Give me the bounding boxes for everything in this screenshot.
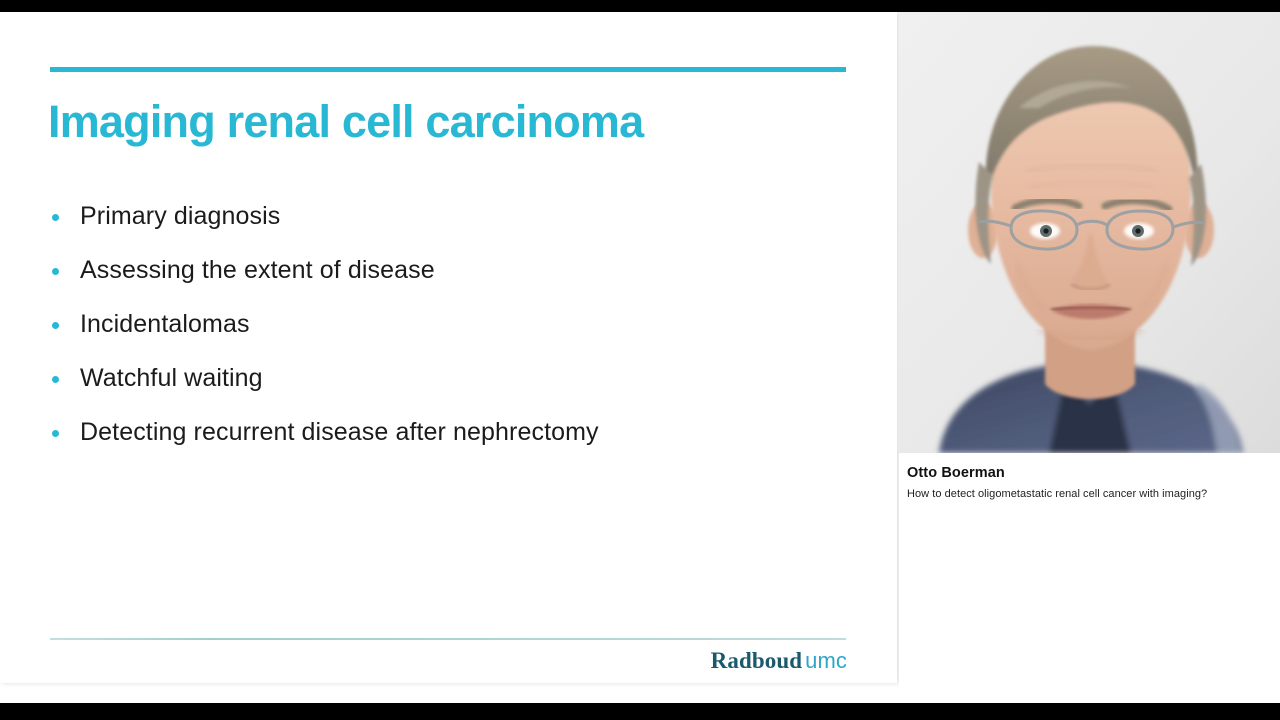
bullet-list: Primary diagnosis Assessing the extent o… [48,202,838,472]
letterbox-bar-bottom [0,703,1280,720]
bullet-text: Incidentalomas [80,310,250,339]
bullet-dot-icon [48,259,80,279]
list-item: Assessing the extent of disease [48,256,838,310]
bullet-dot-icon [48,367,80,387]
slide-panel[interactable]: Imaging renal cell carcinoma Primary dia… [0,12,897,683]
list-item: Incidentalomas [48,310,838,364]
list-item: Primary diagnosis [48,202,838,256]
stage-area: Imaging renal cell carcinoma Primary dia… [0,12,1280,703]
bullet-dot-icon [48,313,80,333]
title-accent-rule [50,67,846,72]
speaker-info: Otto Boerman How to detect oligometastat… [907,464,1277,501]
bullet-text: Watchful waiting [80,364,263,393]
bullet-dot-icon [48,205,80,225]
list-item: Detecting recurrent disease after nephre… [48,418,838,472]
bullet-dot-icon [48,421,80,441]
bullet-text: Primary diagnosis [80,202,280,231]
speaker-panel: Otto Boerman How to detect oligometastat… [899,12,1280,703]
radboud-umc-logo: Radboud umc [711,648,847,676]
letterbox-bar-top [0,0,1280,12]
speaker-talk-title: How to detect oligometastatic renal cell… [907,487,1277,501]
presentation-viewer: Imaging renal cell carcinoma Primary dia… [0,0,1280,720]
slide-title: Imaging renal cell carcinoma [48,98,848,147]
footer-divider [50,638,846,640]
logo-suffix: umc [805,648,847,674]
speaker-photo[interactable] [899,12,1280,453]
logo-wordmark: Radboud [711,648,802,674]
bullet-text: Assessing the extent of disease [80,256,435,285]
bullet-text: Detecting recurrent disease after nephre… [80,418,599,447]
list-item: Watchful waiting [48,364,838,418]
speaker-name: Otto Boerman [907,464,1277,484]
